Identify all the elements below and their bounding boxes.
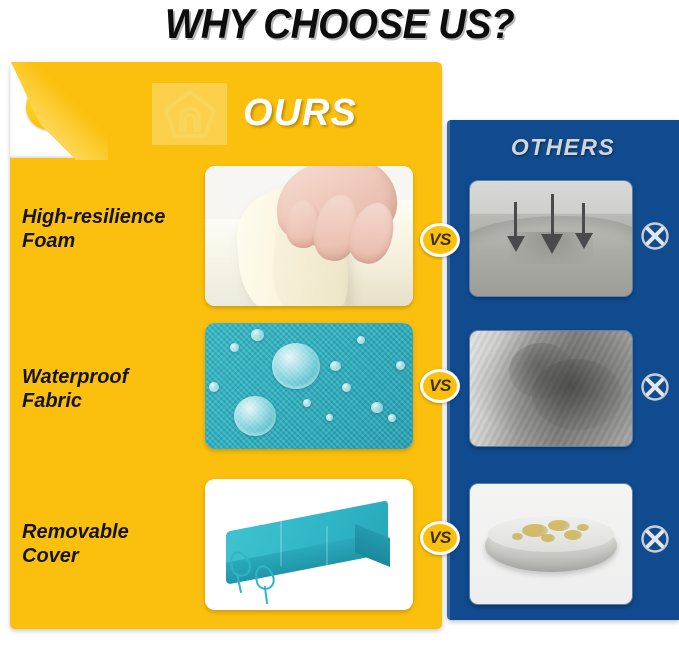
water-drop-small xyxy=(357,336,365,344)
arrow-shaft xyxy=(551,194,554,236)
water-drop-small xyxy=(396,361,405,370)
stain-3 xyxy=(564,530,582,540)
water-drop-small xyxy=(371,402,383,413)
water-drop-large-2 xyxy=(234,396,276,436)
feature-label-3-line2: Cover xyxy=(22,544,202,568)
others-image-3 xyxy=(469,483,633,605)
feature-label-1-line2: Foam xyxy=(22,229,202,253)
comparison-infographic: WHY CHOOSE US? OURS OTHERS High-resilien… xyxy=(0,0,679,662)
circle-x-icon-2 xyxy=(640,372,670,402)
mattress-seam-1 xyxy=(280,521,282,566)
feature-label-1-line1: High-resilience xyxy=(22,205,202,229)
vs-badge-3: VS xyxy=(420,521,460,555)
vs-badge-2: VS xyxy=(420,369,460,403)
page-title: WHY CHOOSE US? xyxy=(27,0,652,52)
smiley-face-icon xyxy=(26,84,72,130)
feature-label-1: High-resilience Foam xyxy=(22,205,202,254)
stained-cushion-photo xyxy=(470,484,632,604)
ours-image-2 xyxy=(205,323,413,449)
others-column-title: OTHERS xyxy=(447,134,679,161)
water-drop-small xyxy=(303,399,311,407)
stain-6 xyxy=(577,524,589,531)
sagging-foam-photo xyxy=(470,181,632,296)
down-arrow-2 xyxy=(541,194,563,260)
water-drop-small xyxy=(388,414,396,422)
water-drop-small xyxy=(330,361,341,371)
foam-photo xyxy=(205,166,413,306)
feature-label-3: Removable Cover xyxy=(22,520,202,569)
house-pentagon-logo-icon xyxy=(152,83,227,145)
wet-blotch-2 xyxy=(509,343,574,398)
feature-label-2: Waterproof Fabric xyxy=(22,365,202,414)
arrow-head xyxy=(541,234,563,254)
arrow-shaft xyxy=(514,202,517,238)
water-drop-small xyxy=(342,383,351,392)
ours-image-1 xyxy=(205,166,413,306)
down-arrow-3 xyxy=(574,203,594,253)
stain-2 xyxy=(548,520,570,531)
circle-x-icon-1 xyxy=(640,221,670,251)
water-drop-small xyxy=(251,329,264,341)
arrow-head xyxy=(507,236,525,252)
others-image-2 xyxy=(469,330,633,447)
water-drop-large-1 xyxy=(272,343,320,389)
water-drop-small xyxy=(326,414,333,421)
peeled-corner-reveal xyxy=(10,62,106,158)
vs-badge-1: VS xyxy=(420,223,460,257)
down-arrow-1 xyxy=(506,202,526,254)
water-drop-small xyxy=(230,343,239,352)
water-drop-small xyxy=(209,382,219,392)
folding-mattress-photo xyxy=(205,479,413,610)
arrow-shaft xyxy=(582,203,585,235)
feature-label-3-line1: Removable xyxy=(22,520,202,544)
feature-label-2-line1: Waterproof xyxy=(22,365,202,389)
mattress-seam-2 xyxy=(326,526,328,568)
ours-column-title: OURS xyxy=(243,92,357,135)
circle-x-icon-3 xyxy=(640,524,670,554)
wet-gray-fabric-photo xyxy=(470,331,632,446)
ours-image-3 xyxy=(205,479,413,610)
others-image-1 xyxy=(469,180,633,297)
arrow-head xyxy=(575,233,593,249)
smiley-mouth xyxy=(36,102,68,124)
feature-label-2-line2: Fabric xyxy=(22,389,202,413)
waterproof-fabric-photo xyxy=(205,323,413,449)
